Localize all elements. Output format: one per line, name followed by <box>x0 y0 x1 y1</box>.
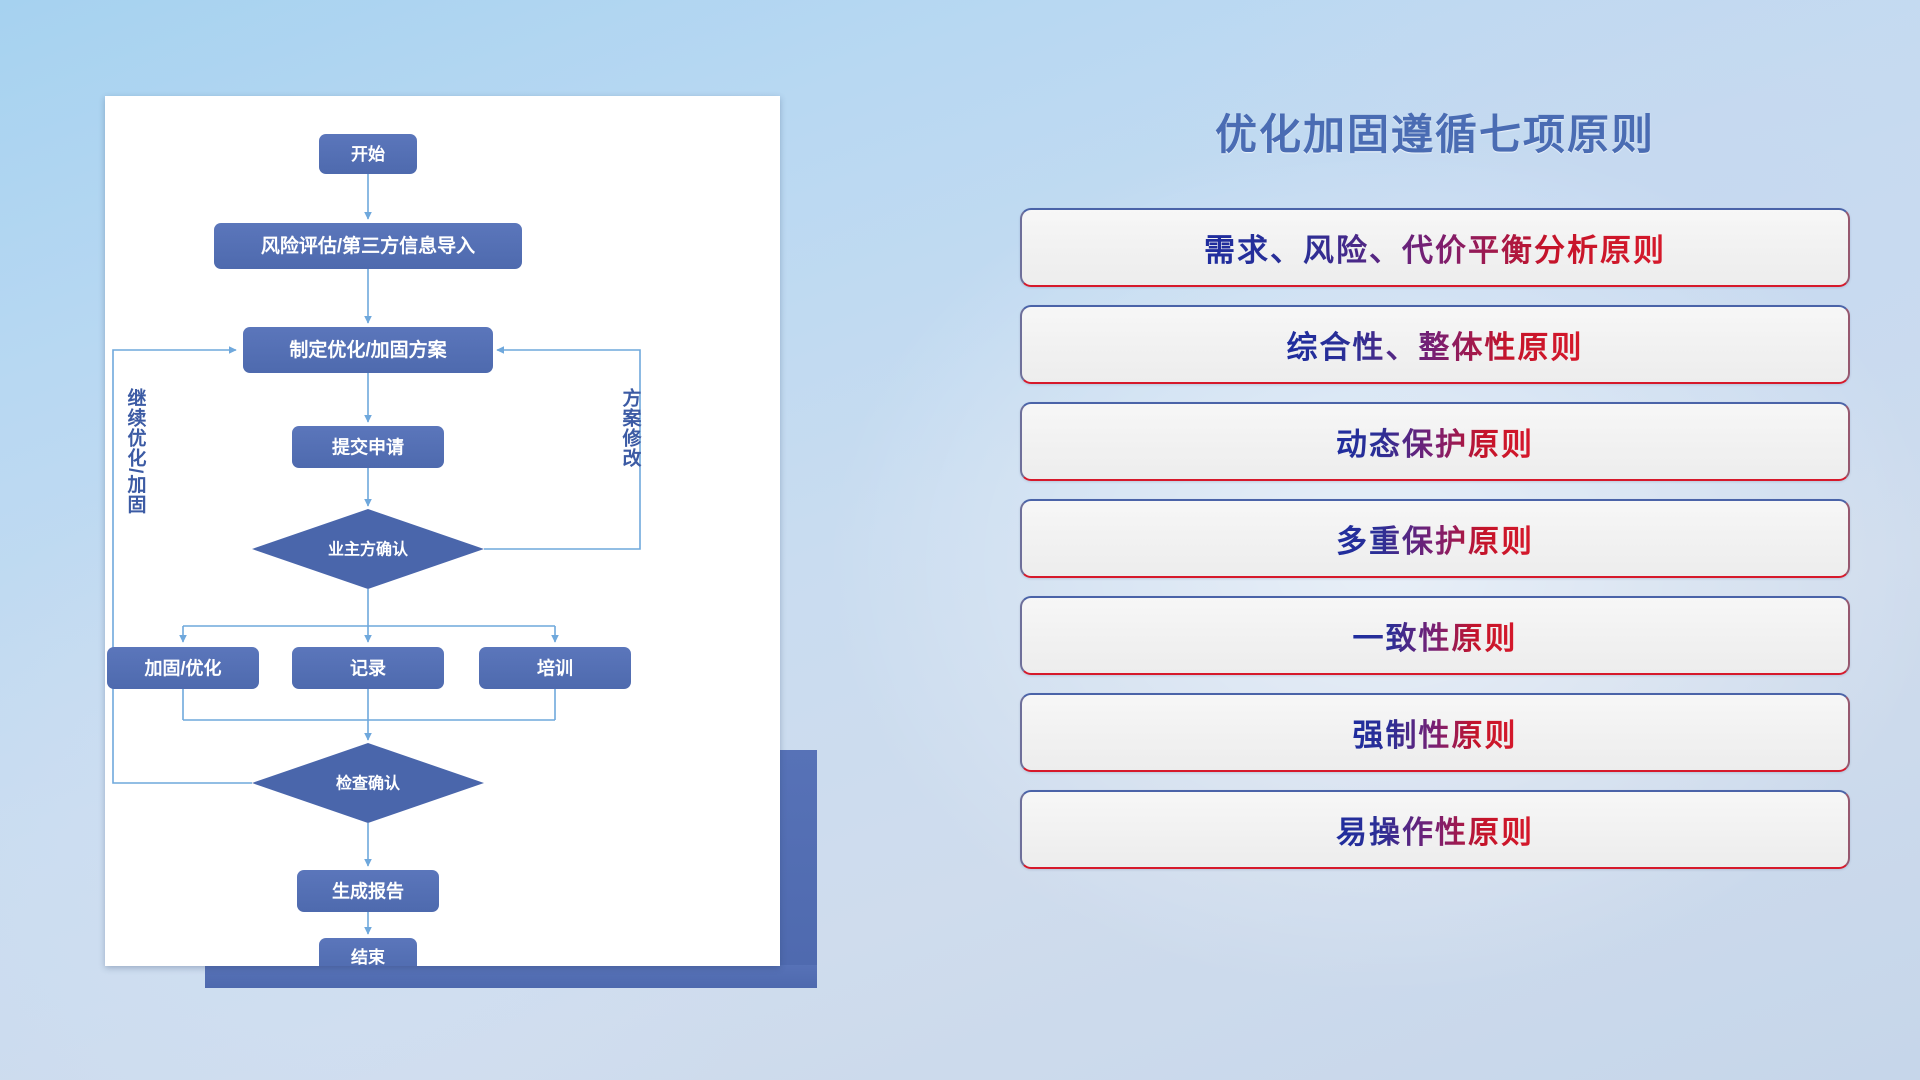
flow-node-end-label: 结束 <box>351 947 385 966</box>
principles-panel: 优化加固遵循七项原则 需求、风险、代价平衡分析原则 综合性、整体性原则 动态保护… <box>1020 96 1850 1006</box>
flow-node-end[interactable]: 结束 <box>319 938 417 966</box>
edge-label-continue-optimize: 继续优化/加固 <box>125 387 148 515</box>
principle-card-2-label: 综合性、整体性原则 <box>1287 322 1584 367</box>
flow-node-training[interactable]: 培训 <box>479 647 631 689</box>
principle-card-6[interactable]: 强制性原则 <box>1020 693 1850 772</box>
flow-node-start-label: 开始 <box>351 144 385 164</box>
flow-node-generate-report-label: 生成报告 <box>332 881 404 902</box>
principle-card-7[interactable]: 易操作性原则 <box>1020 790 1850 869</box>
principle-card-3-label: 动态保护原则 <box>1336 419 1534 464</box>
principle-card-1[interactable]: 需求、风险、代价平衡分析原则 <box>1020 208 1850 287</box>
panel-title: 优化加固遵循七项原则 <box>1020 114 1850 156</box>
flow-node-harden-label: 加固/优化 <box>143 658 221 679</box>
flow-node-plan-label: 制定优化/加固方案 <box>289 338 447 361</box>
flow-node-submit[interactable]: 提交申请 <box>292 426 444 468</box>
principle-card-list: 需求、风险、代价平衡分析原则 综合性、整体性原则 动态保护原则 多重保护原则 一… <box>1020 208 1850 869</box>
flow-node-owner-confirm[interactable]: 业主方确认 <box>252 509 484 589</box>
principle-card-4-label: 多重保护原则 <box>1336 516 1534 561</box>
principle-card-6-label: 强制性原则 <box>1353 710 1518 755</box>
flow-node-owner-confirm-label: 业主方确认 <box>328 540 409 559</box>
principle-card-7-label: 易操作性原则 <box>1336 807 1534 852</box>
flow-node-plan[interactable]: 制定优化/加固方案 <box>243 327 493 373</box>
flowchart-panel: 开始 风险评估/第三方信息导入 制定优化/加固方案 提交申请 业主方确认 加固/ <box>0 0 860 1080</box>
flow-node-training-label: 培训 <box>537 658 573 679</box>
flow-node-record-label: 记录 <box>350 659 386 679</box>
edge-label-plan-revision: 方案修改 <box>620 387 643 468</box>
principle-card-4[interactable]: 多重保护原则 <box>1020 499 1850 578</box>
flowchart-svg: 开始 风险评估/第三方信息导入 制定优化/加固方案 提交申请 业主方确认 加固/ <box>105 96 780 966</box>
principle-card-1-label: 需求、风险、代价平衡分析原则 <box>1204 225 1666 270</box>
principle-card-3[interactable]: 动态保护原则 <box>1020 402 1850 481</box>
flow-node-check-confirm-label: 检查确认 <box>336 774 401 793</box>
flow-node-risk-assessment[interactable]: 风险评估/第三方信息导入 <box>214 223 522 269</box>
flow-nodes: 开始 风险评估/第三方信息导入 制定优化/加固方案 提交申请 业主方确认 加固/ <box>107 134 631 966</box>
flow-node-harden[interactable]: 加固/优化 <box>107 647 259 689</box>
flow-node-start[interactable]: 开始 <box>319 134 417 174</box>
accent-rectangle-bottom <box>205 965 817 988</box>
flow-node-risk-assessment-label: 风险评估/第三方信息导入 <box>261 234 475 257</box>
principle-card-2[interactable]: 综合性、整体性原则 <box>1020 305 1850 384</box>
principle-card-5-label: 一致性原则 <box>1353 613 1518 658</box>
flow-node-check-confirm[interactable]: 检查确认 <box>252 743 484 823</box>
flow-node-submit-label: 提交申请 <box>332 437 404 458</box>
principle-card-5[interactable]: 一致性原则 <box>1020 596 1850 675</box>
flow-node-generate-report[interactable]: 生成报告 <box>297 870 439 912</box>
flow-node-record[interactable]: 记录 <box>292 647 444 689</box>
